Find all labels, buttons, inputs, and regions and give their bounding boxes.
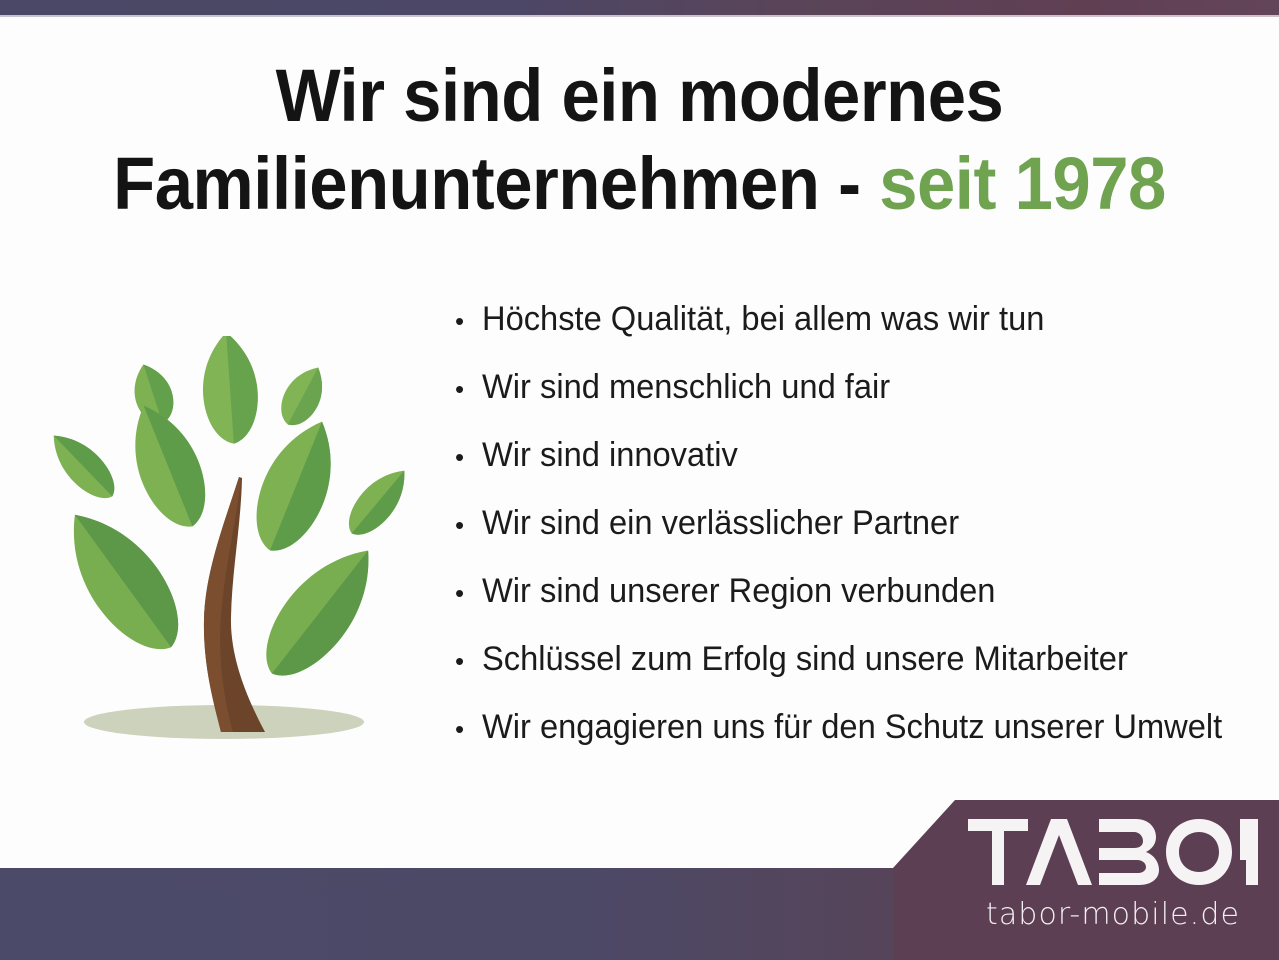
page-title-line-2: Familienunternehmen - seit 1978 <box>45 140 1234 228</box>
page-title-line-1: Wir sind ein modernes <box>45 52 1234 140</box>
bullet-marker-icon: • <box>455 580 482 606</box>
leaf-2 <box>199 336 261 446</box>
list-item: • Wir sind innovativ <box>455 436 1265 504</box>
bullet-marker-icon: • <box>455 648 482 674</box>
logo-tagline: tabor-mobile.de <box>968 898 1258 932</box>
list-item: • Wir sind menschlich und fair <box>455 368 1265 436</box>
page-title-accent: seit 1978 <box>879 142 1166 225</box>
page-title-line-2-main: Familienunternehmen - <box>113 142 879 225</box>
bullet-marker-icon: • <box>455 308 482 334</box>
list-item: • Schlüssel zum Erfolg sind unsere Mitar… <box>455 640 1265 708</box>
list-item: • Wir sind ein verlässlicher Partner <box>455 504 1265 572</box>
list-item-label: Schlüssel zum Erfolg sind unsere Mitarbe… <box>482 640 1128 679</box>
leaf-7 <box>338 459 418 544</box>
list-item-label: Wir engagieren uns für den Schutz unsere… <box>482 708 1222 747</box>
bullet-marker-icon: • <box>455 512 482 538</box>
bullet-marker-icon: • <box>455 716 482 742</box>
list-item-label: Wir sind menschlich und fair <box>482 368 890 407</box>
logo-wordmark-tabor <box>968 819 1258 885</box>
leaf-9 <box>246 530 394 693</box>
list-item-label: Wir sind ein verlässlicher Partner <box>482 504 959 543</box>
slide-canvas: Wir sind ein modernes Familienunternehme… <box>0 0 1279 960</box>
top-accent-bar-hairline <box>0 15 1279 17</box>
tree-illustration <box>28 336 432 754</box>
page-title: Wir sind ein modernes Familienunternehme… <box>45 52 1234 228</box>
bullet-marker-icon: • <box>455 444 482 470</box>
bullet-marker-icon: • <box>455 376 482 402</box>
leaf-3 <box>272 359 333 432</box>
list-item-label: Wir sind innovativ <box>482 436 738 475</box>
leaf-6 <box>241 410 352 563</box>
list-item-label: Höchste Qualität, bei allem was wir tun <box>482 300 1044 339</box>
leaf-5 <box>41 423 125 508</box>
list-item: • Wir sind unserer Region verbunden <box>455 572 1265 640</box>
top-accent-bar <box>0 0 1279 15</box>
value-list: • Höchste Qualität, bei allem was wir tu… <box>455 300 1265 776</box>
list-item: • Höchste Qualität, bei allem was wir tu… <box>455 300 1265 368</box>
list-item-label: Wir sind unserer Region verbunden <box>482 572 995 611</box>
list-item: • Wir engagieren uns für den Schutz unse… <box>455 708 1265 776</box>
